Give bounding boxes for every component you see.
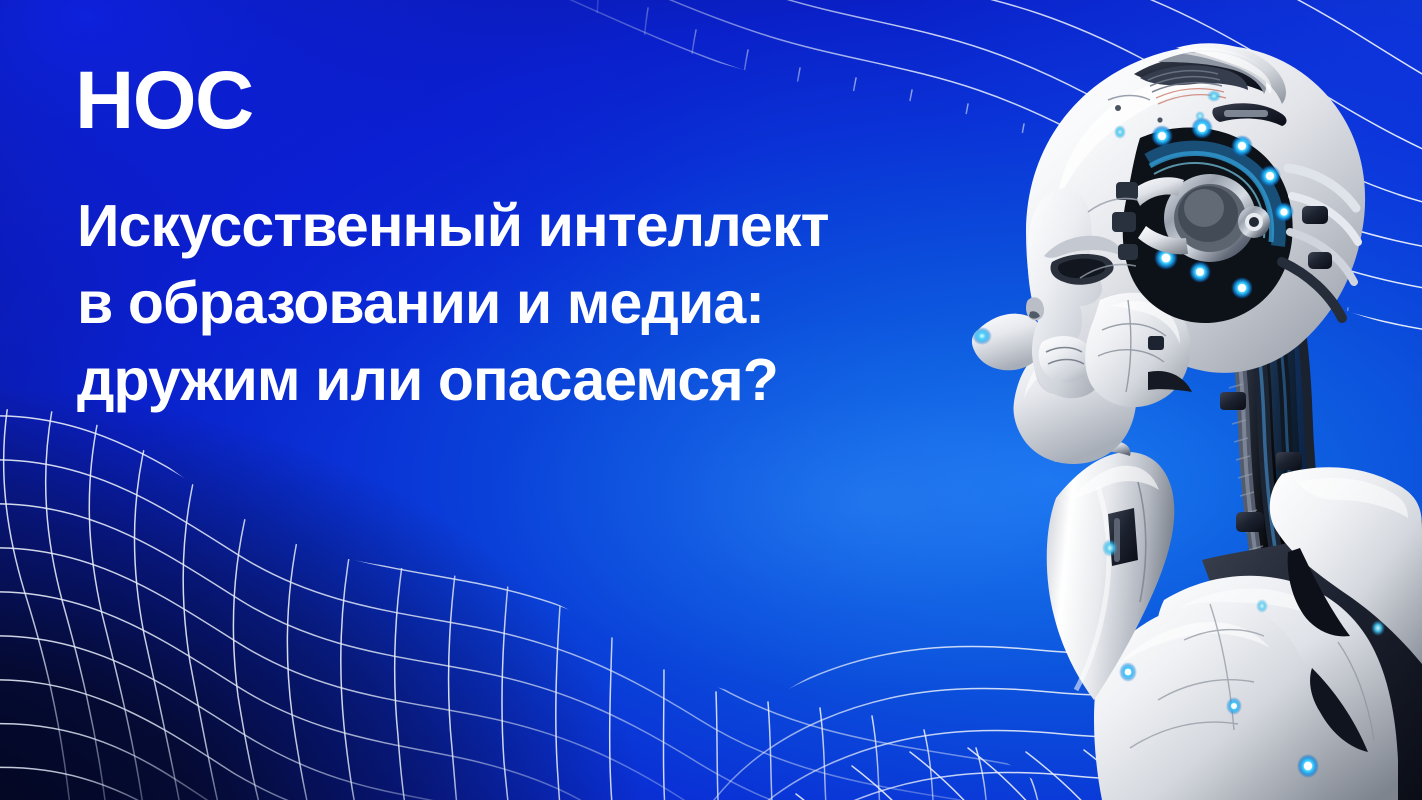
brand-logo: НОС <box>75 60 253 142</box>
title-line-2: в образовании и медиа: <box>77 265 977 342</box>
title-line-3: дружим или опасаемся? <box>77 342 977 419</box>
title-line-1: Искусственный интеллект <box>77 188 977 265</box>
page-title: Искусственный интеллект в образовании и … <box>77 188 977 419</box>
title-slide: НОС Искусственный интеллект в образовани… <box>0 0 1422 800</box>
